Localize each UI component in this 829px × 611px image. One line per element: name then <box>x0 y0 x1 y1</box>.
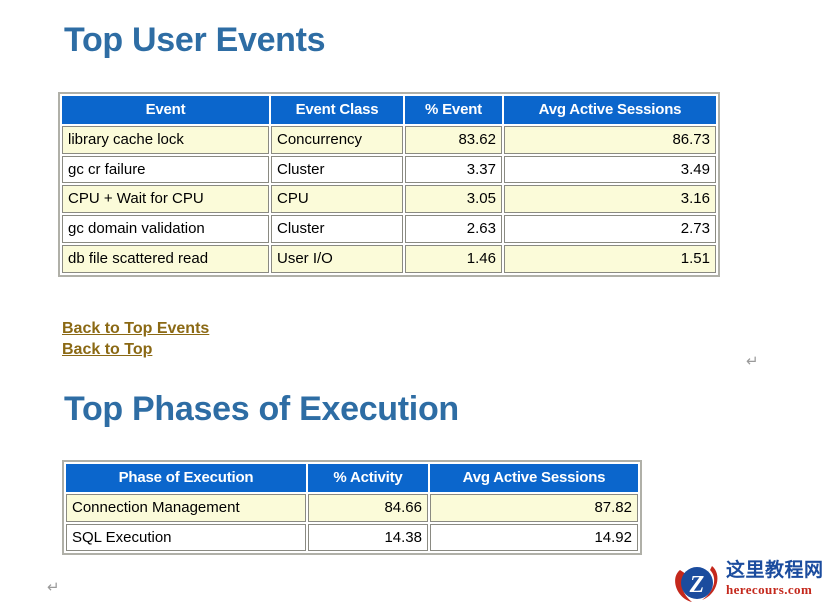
watermark-domain: herecours.com <box>726 582 824 598</box>
column-header-avg-active-sessions: Avg Active Sessions <box>504 96 716 124</box>
watermark-logo-icon: Z <box>672 560 722 606</box>
column-header-avg-active-sessions: Avg Active Sessions <box>430 464 638 492</box>
return-arrow-icon: ↵ <box>47 580 60 595</box>
svg-text:Z: Z <box>689 572 705 598</box>
return-arrow-icon: ↵ <box>746 354 759 369</box>
cell-event: db file scattered read <box>62 245 269 273</box>
cell-avg-active-sessions: 3.49 <box>504 156 716 184</box>
site-watermark: Z 这里教程网 herecours.com <box>672 558 829 608</box>
table-row: library cache lock Concurrency 83.62 86.… <box>62 126 716 154</box>
column-header-event: Event <box>62 96 269 124</box>
column-header-event-class: Event Class <box>271 96 403 124</box>
cell-event: CPU + Wait for CPU <box>62 185 269 213</box>
table-row: CPU + Wait for CPU CPU 3.05 3.16 <box>62 185 716 213</box>
cell-event-class: User I/O <box>271 245 403 273</box>
cell-event-class: Concurrency <box>271 126 403 154</box>
watermark-text: 这里教程网 herecours.com <box>726 560 824 598</box>
cell-avg-active-sessions: 14.92 <box>430 524 638 552</box>
cell-avg-active-sessions: 86.73 <box>504 126 716 154</box>
link-back-to-top-events[interactable]: Back to Top Events <box>62 318 209 339</box>
table-row: gc domain validation Cluster 2.63 2.73 <box>62 215 716 243</box>
cell-event: gc cr failure <box>62 156 269 184</box>
cell-pct-event: 83.62 <box>405 126 502 154</box>
top-user-events-table: Event Event Class % Event Avg Active Ses… <box>58 92 720 277</box>
table-header-row: Event Event Class % Event Avg Active Ses… <box>62 96 716 124</box>
table-row: gc cr failure Cluster 3.37 3.49 <box>62 156 716 184</box>
cell-pct-activity: 14.38 <box>308 524 428 552</box>
table-row: db file scattered read User I/O 1.46 1.5… <box>62 245 716 273</box>
top-phases-of-execution-table: Phase of Execution % Activity Avg Active… <box>62 460 642 555</box>
page-title-top-user-events: Top User Events <box>64 23 325 57</box>
cell-pct-event: 3.37 <box>405 156 502 184</box>
cell-event-class: Cluster <box>271 215 403 243</box>
link-back-to-top[interactable]: Back to Top <box>62 339 209 360</box>
cell-avg-active-sessions: 87.82 <box>430 494 638 522</box>
cell-event-class: Cluster <box>271 156 403 184</box>
cell-avg-active-sessions: 2.73 <box>504 215 716 243</box>
cell-pct-event: 1.46 <box>405 245 502 273</box>
cell-avg-active-sessions: 3.16 <box>504 185 716 213</box>
watermark-site-name: 这里教程网 <box>726 560 824 581</box>
cell-event: gc domain validation <box>62 215 269 243</box>
table-header-row: Phase of Execution % Activity Avg Active… <box>66 464 638 492</box>
cell-event-class: CPU <box>271 185 403 213</box>
column-header-pct-event: % Event <box>405 96 502 124</box>
column-header-pct-activity: % Activity <box>308 464 428 492</box>
page-title-top-phases-of-execution: Top Phases of Execution <box>64 392 459 426</box>
cell-phase-of-execution: Connection Management <box>66 494 306 522</box>
table-row: SQL Execution 14.38 14.92 <box>66 524 638 552</box>
cell-phase-of-execution: SQL Execution <box>66 524 306 552</box>
table-row: Connection Management 84.66 87.82 <box>66 494 638 522</box>
cell-pct-event: 3.05 <box>405 185 502 213</box>
cell-pct-activity: 84.66 <box>308 494 428 522</box>
cell-event: library cache lock <box>62 126 269 154</box>
cell-avg-active-sessions: 1.51 <box>504 245 716 273</box>
cell-pct-event: 2.63 <box>405 215 502 243</box>
navigation-links: Back to Top Events Back to Top <box>62 318 209 360</box>
column-header-phase-of-execution: Phase of Execution <box>66 464 306 492</box>
